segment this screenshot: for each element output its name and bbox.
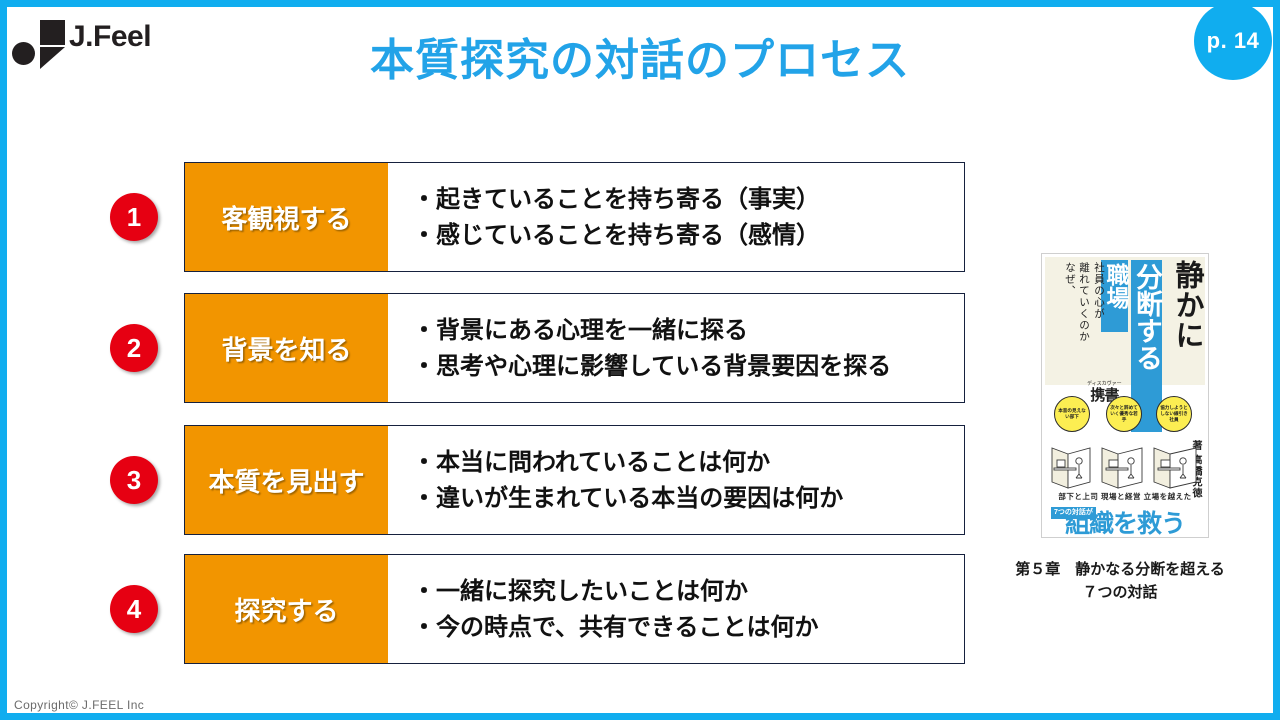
process-step-label: 本質を見出す (185, 426, 388, 534)
speech-bubble: 協力しようとしない線引き社員 (1156, 396, 1192, 432)
book-cover-figure: 静かに 分断する 職場 社員の心が 離れていくのか なぜ、 ディスカヴァー 携書… (1041, 253, 1209, 538)
bullet-item: ・一緒に探究したいことは何か (412, 573, 964, 609)
bullet-item: ・本当に問われていることは何か (412, 444, 964, 480)
bullet-item: ・思考や心理に影響している背景要因を探る (412, 348, 964, 384)
page-number-badge: p. 14 (1194, 2, 1272, 80)
logo-mark-icon (12, 18, 68, 66)
process-row-body: 客観視する ・起きていることを持ち寄る（事実） ・感じていることを持ち寄る（感情… (184, 162, 965, 272)
process-step-label: 背景を知る (185, 294, 388, 402)
logo-circle-shape (12, 42, 35, 65)
step-number-badge: 1 (110, 193, 158, 241)
process-row-3: 3 本質を見出す ・本当に問われていることは何か ・違いが生まれている本当の要因… (110, 425, 965, 535)
book-caption-line-2: ７つの対話 (965, 581, 1275, 604)
book-bottom-band: 部下と上司 現場と経営 立場を越えた 7つの対話が 組織を救う (1045, 491, 1205, 533)
process-step-label: 客観視する (185, 163, 388, 271)
process-row-body: 探究する ・一緒に探究したいことは何か ・今の時点で、共有できることは何か (184, 554, 965, 664)
process-step-label: 探究する (185, 555, 388, 663)
bullet-item: ・今の時点で、共有できることは何か (412, 609, 964, 645)
book-title-shokuba: 職場 (1101, 260, 1128, 332)
process-step-bullets: ・一緒に探究したいことは何か ・今の時点で、共有できることは何か (388, 555, 964, 663)
book-band-subtitle: 部下と上司 現場と経営 立場を越えた (1045, 491, 1205, 502)
process-row-1: 1 客観視する ・起きていることを持ち寄る（事実） ・感じていることを持ち寄る（… (110, 162, 965, 272)
step-number-badge: 3 (110, 456, 158, 504)
book-cover-image: 静かに 分断する 職場 社員の心が 離れていくのか なぜ、 ディスカヴァー 携書… (1041, 253, 1209, 538)
slide: J.Feel 本質探究の対話のプロセス p. 14 1 客観視する ・起きている… (0, 0, 1280, 720)
process-row-body: 背景を知る ・背景にある心理を一緒に探る ・思考や心理に影響している背景要因を探… (184, 293, 965, 403)
speech-bubble: 次々と辞めていく優秀な若手 (1106, 396, 1142, 432)
book-lead-line3: 離れていくのか (1077, 262, 1090, 343)
process-row-4: 4 探究する ・一緒に探究したいことは何か ・今の時点で、共有できることは何か (110, 554, 965, 664)
process-step-bullets: ・起きていることを持ち寄る（事実） ・感じていることを持ち寄る（感情） (388, 163, 964, 271)
step-number-badge: 4 (110, 585, 158, 633)
logo-square-shape (40, 20, 65, 45)
speech-bubble: 本音の見えない部下 (1054, 396, 1090, 432)
bullet-item: ・起きていることを持ち寄る（事実） (412, 181, 964, 217)
process-step-bullets: ・背景にある心理を一緒に探る ・思考や心理に影響している背景要因を探る (388, 294, 964, 402)
book-band-tag: 7つの対話が (1051, 507, 1096, 519)
logo-triangle-shape (40, 47, 65, 69)
book-lead-line2: 社員の心が (1092, 262, 1105, 320)
book-title-main: 静かに (1173, 260, 1202, 350)
bullet-item: ・感じていることを持ち寄る（感情） (412, 217, 964, 253)
book-speech-bubbles: 本音の見えない部下 次々と辞めていく優秀な若手 協力しようとしない線引き社員 (1042, 396, 1209, 436)
logo-wordmark: J.Feel (69, 20, 151, 54)
step-number-badge: 2 (110, 324, 158, 372)
office-illustration-icon (1046, 434, 1206, 496)
book-caption-line-1: 第５章 静かなる分断を超える (965, 558, 1275, 581)
brand-logo: J.Feel (12, 18, 182, 72)
copyright-footer: Copyright© J.FEEL Inc (14, 698, 144, 712)
book-caption: 第５章 静かなる分断を超える ７つの対話 (965, 558, 1275, 603)
process-step-bullets: ・本当に問われていることは何か ・違いが生まれている本当の要因は何か (388, 426, 964, 534)
bullet-item: ・背景にある心理を一緒に探る (412, 312, 964, 348)
process-row-2: 2 背景を知る ・背景にある心理を一緒に探る ・思考や心理に影響している背景要因… (110, 293, 965, 403)
bullet-item: ・違いが生まれている本当の要因は何か (412, 480, 964, 516)
book-lead-line1: なぜ、 (1065, 262, 1076, 297)
process-row-body: 本質を見出す ・本当に問われていることは何か ・違いが生まれている本当の要因は何… (184, 425, 965, 535)
